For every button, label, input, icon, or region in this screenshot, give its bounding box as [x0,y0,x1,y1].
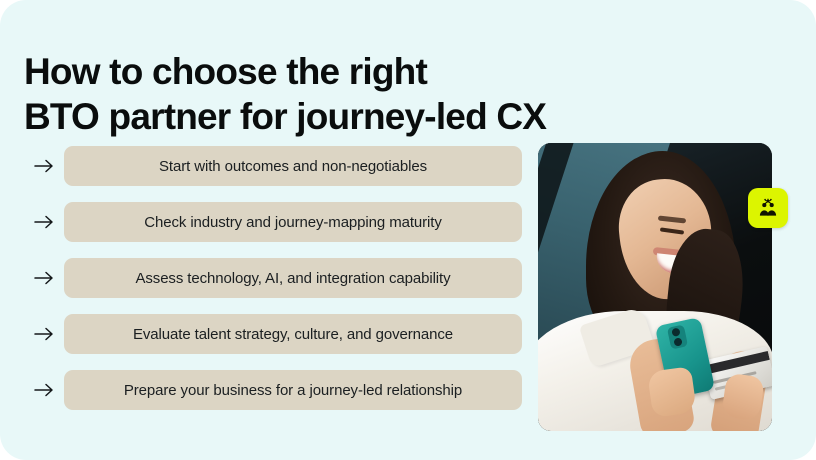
list-item-pill[interactable]: Prepare your business for a journey-led … [64,370,522,410]
hero-photo [538,143,772,431]
slide-card: How to choose the right BTO partner for … [0,0,816,460]
list-item[interactable]: Start with outcomes and non-negotiables [28,146,522,186]
page-title: How to choose the right BTO partner for … [24,49,664,139]
arrow-right-icon [28,159,64,173]
list-item-label: Evaluate talent strategy, culture, and g… [133,325,453,344]
list-item-label: Assess technology, AI, and integration c… [135,269,450,288]
checklist: Start with outcomes and non-negotiables … [28,146,522,410]
list-item[interactable]: Evaluate talent strategy, culture, and g… [28,314,522,354]
list-item-pill[interactable]: Assess technology, AI, and integration c… [64,258,522,298]
arrow-right-icon [28,215,64,229]
list-item-pill[interactable]: Start with outcomes and non-negotiables [64,146,522,186]
people-network-icon [756,196,780,220]
list-item-label: Start with outcomes and non-negotiables [159,157,427,176]
list-item-pill[interactable]: Evaluate talent strategy, culture, and g… [64,314,522,354]
brand-badge[interactable] [748,188,788,228]
list-item-pill[interactable]: Check industry and journey-mapping matur… [64,202,522,242]
list-item[interactable]: Prepare your business for a journey-led … [28,370,522,410]
arrow-right-icon [28,271,64,285]
photo-container [538,143,772,431]
list-item-label: Check industry and journey-mapping matur… [144,213,442,232]
list-item[interactable]: Assess technology, AI, and integration c… [28,258,522,298]
arrow-right-icon [28,327,64,341]
list-item-label: Prepare your business for a journey-led … [124,381,462,400]
arrow-right-icon [28,383,64,397]
list-item[interactable]: Check industry and journey-mapping matur… [28,202,522,242]
